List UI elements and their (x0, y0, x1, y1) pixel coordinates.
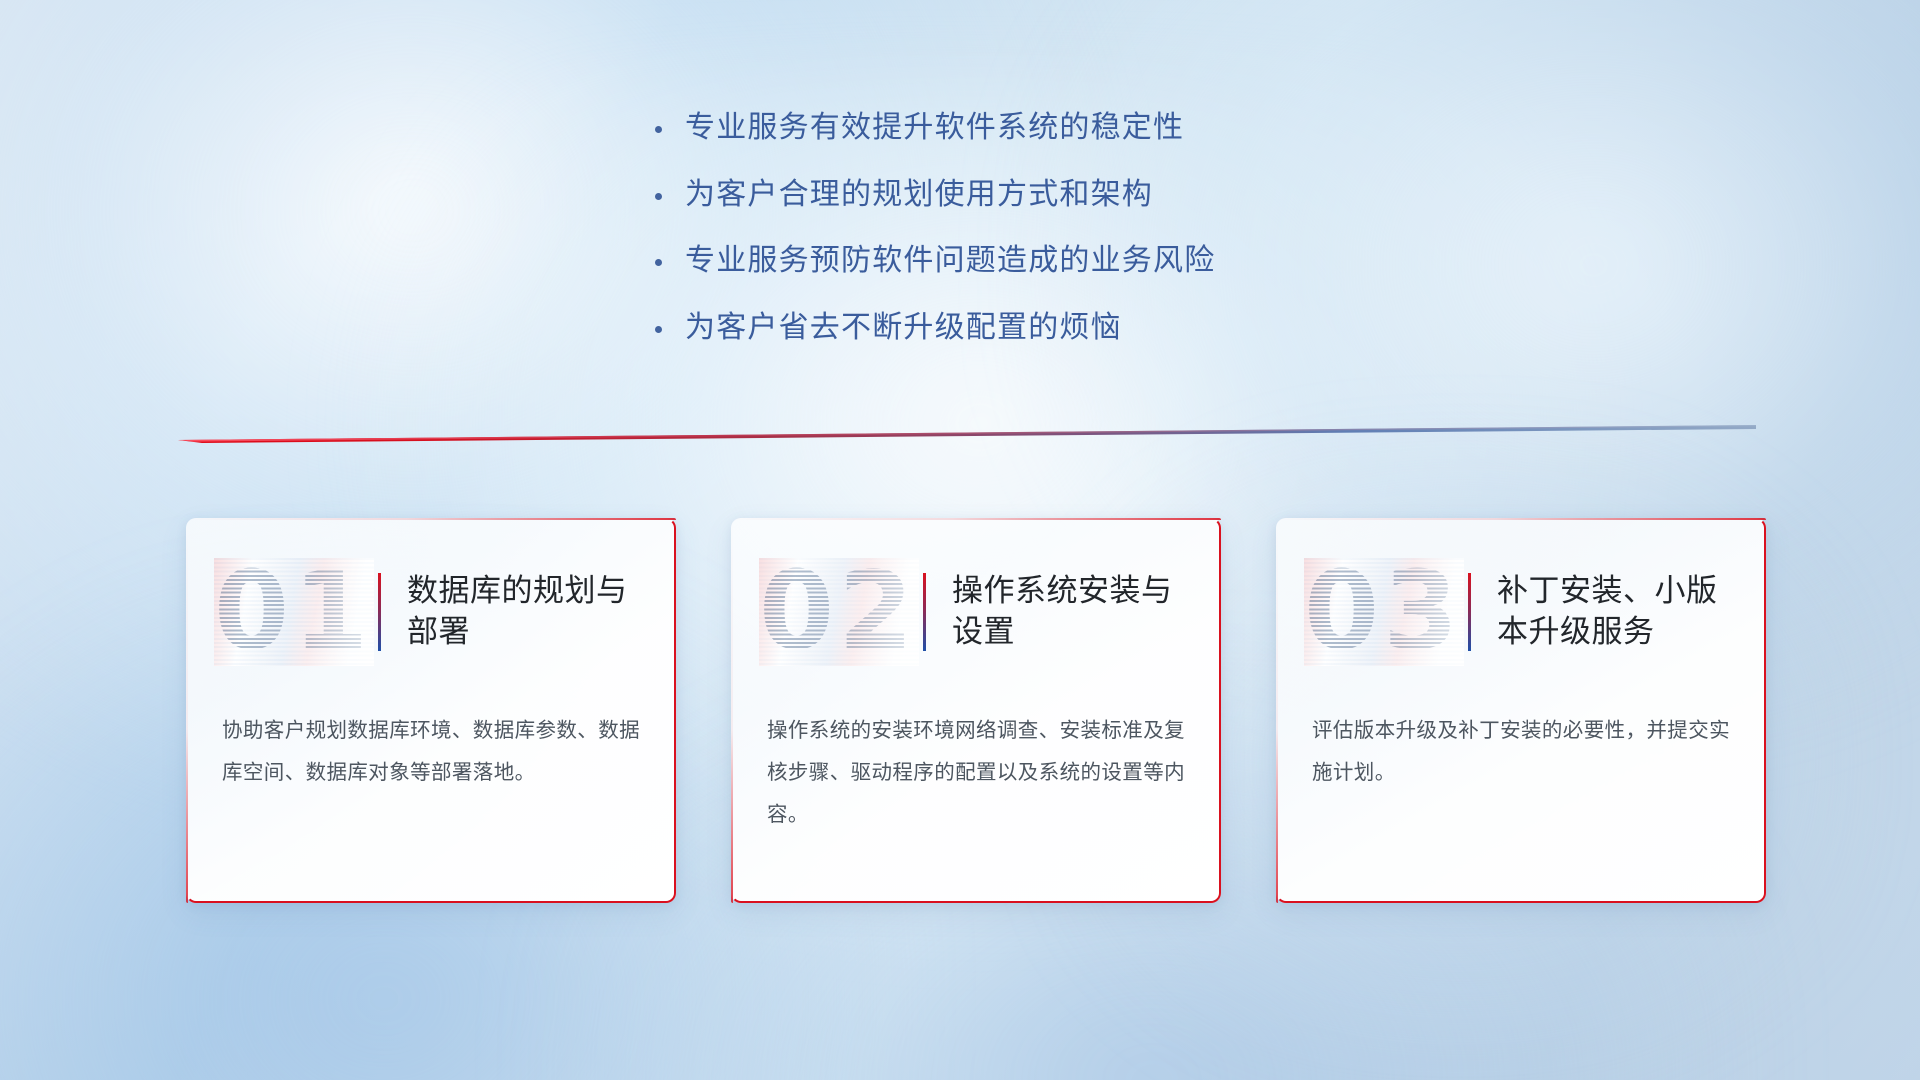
card-title: 操作系统安装与设置 (952, 571, 1191, 653)
card-title-divider (378, 573, 381, 651)
card-number-label: 01 (214, 558, 372, 666)
bullet-dot-icon (655, 248, 685, 266)
bullet-dot-icon (655, 315, 685, 333)
service-card[interactable]: 03 补丁安装、小版本升级服务 评估版本升级及补丁安装的必要性，并提交实施计划。 (1276, 518, 1766, 903)
card-header: 01 数据库的规划与部署 (186, 518, 676, 668)
bullet-item-label: 专业服务有效提升软件系统的稳定性 (685, 108, 1184, 149)
card-title: 补丁安装、小版本升级服务 (1497, 571, 1736, 653)
card-number-badge: 03 (1304, 558, 1464, 666)
bullet-item-label: 专业服务预防软件问题造成的业务风险 (685, 241, 1215, 282)
bullet-item-label: 为客户合理的规划使用方式和架构 (685, 175, 1153, 216)
card-title-divider (923, 573, 926, 651)
bullet-item: 为客户省去不断升级配置的烦恼 (655, 308, 1415, 349)
card-title-divider (1468, 573, 1471, 651)
card-number-badge: 01 (214, 558, 374, 666)
slide-canvas: 专业服务有效提升软件系统的稳定性 为客户合理的规划使用方式和架构 专业服务预防软… (0, 0, 1920, 1080)
card-body-text: 协助客户规划数据库环境、数据库参数、数据库空间、数据库对象等部署落地。 (186, 668, 676, 794)
card-number-label: 03 (1304, 558, 1462, 666)
bullet-item-label: 为客户省去不断升级配置的烦恼 (685, 308, 1122, 349)
card-title: 数据库的规划与部署 (407, 571, 646, 653)
service-card-list: 01 数据库的规划与部署 协助客户规划数据库环境、数据库参数、数据库空间、数据库… (186, 518, 1766, 903)
card-header: 02 操作系统安装与设置 (731, 518, 1221, 668)
card-number-badge: 02 (759, 558, 919, 666)
bullet-item: 为客户合理的规划使用方式和架构 (655, 175, 1415, 216)
card-body-text: 评估版本升级及补丁安装的必要性，并提交实施计划。 (1276, 668, 1766, 794)
bullet-dot-icon (655, 115, 685, 133)
card-header: 03 补丁安装、小版本升级服务 (1276, 518, 1766, 668)
card-number-label: 02 (759, 558, 917, 666)
card-body-text: 操作系统的安装环境网络调查、安装标准及复核步骤、驱动程序的配置以及系统的设置等内… (731, 668, 1221, 836)
bullet-item: 专业服务预防软件问题造成的业务风险 (655, 241, 1415, 282)
service-card[interactable]: 01 数据库的规划与部署 协助客户规划数据库环境、数据库参数、数据库空间、数据库… (186, 518, 676, 903)
service-card[interactable]: 02 操作系统安装与设置 操作系统的安装环境网络调查、安装标准及复核步骤、驱动程… (731, 518, 1221, 903)
bullet-dot-icon (655, 182, 685, 200)
benefits-bullet-list: 专业服务有效提升软件系统的稳定性 为客户合理的规划使用方式和架构 专业服务预防软… (655, 108, 1415, 374)
bullet-item: 专业服务有效提升软件系统的稳定性 (655, 108, 1415, 149)
